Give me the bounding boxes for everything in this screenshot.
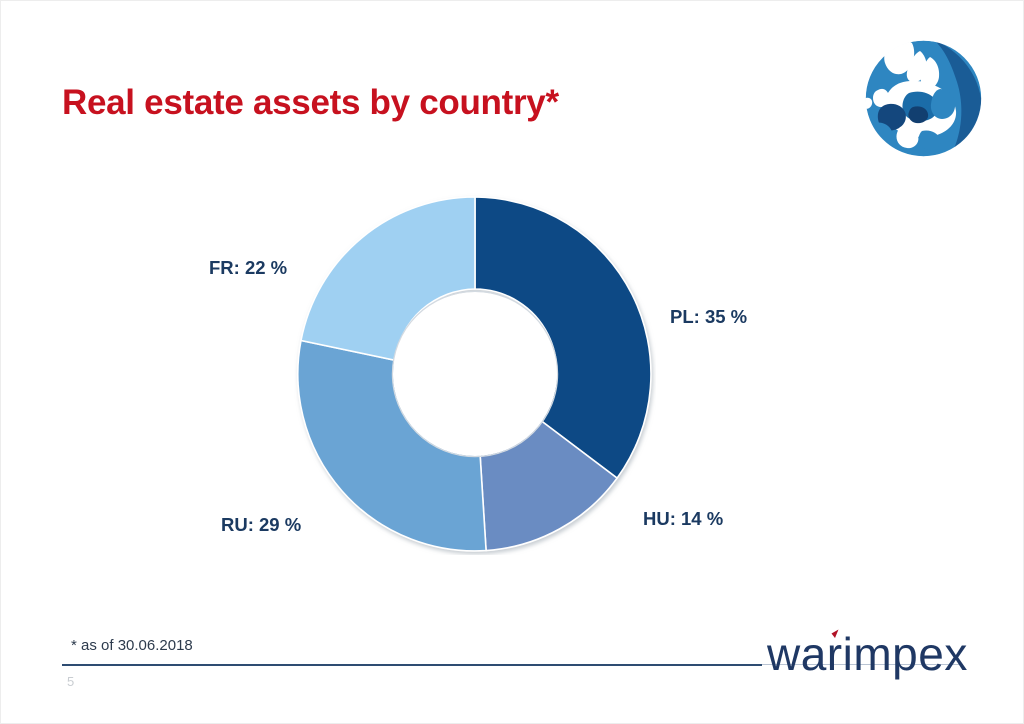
page-number: 5 [67,674,74,689]
footnote: * as of 30.06.2018 [71,637,193,654]
page-title: Real estate assets by country* [62,83,559,123]
slice-label-ru: RU: 29 % [221,514,301,536]
globe-europe-icon [852,27,995,170]
slice-label-fr: FR: 22 % [209,257,287,279]
footer-divider [62,664,762,666]
slice-label-pl: PL: 35 % [670,306,747,328]
donut-graphic [294,193,656,555]
slice-label-hu: HU: 14 % [643,508,723,530]
slide-canvas: Real estate assets by country* [0,0,1024,724]
warimpex-wordmark: warimpex [767,628,967,680]
svg-text:warimpex: warimpex [767,628,967,680]
donut-chart: FR: 22 % PL: 35 % HU: 14 % RU: 29 % [1,181,1024,601]
